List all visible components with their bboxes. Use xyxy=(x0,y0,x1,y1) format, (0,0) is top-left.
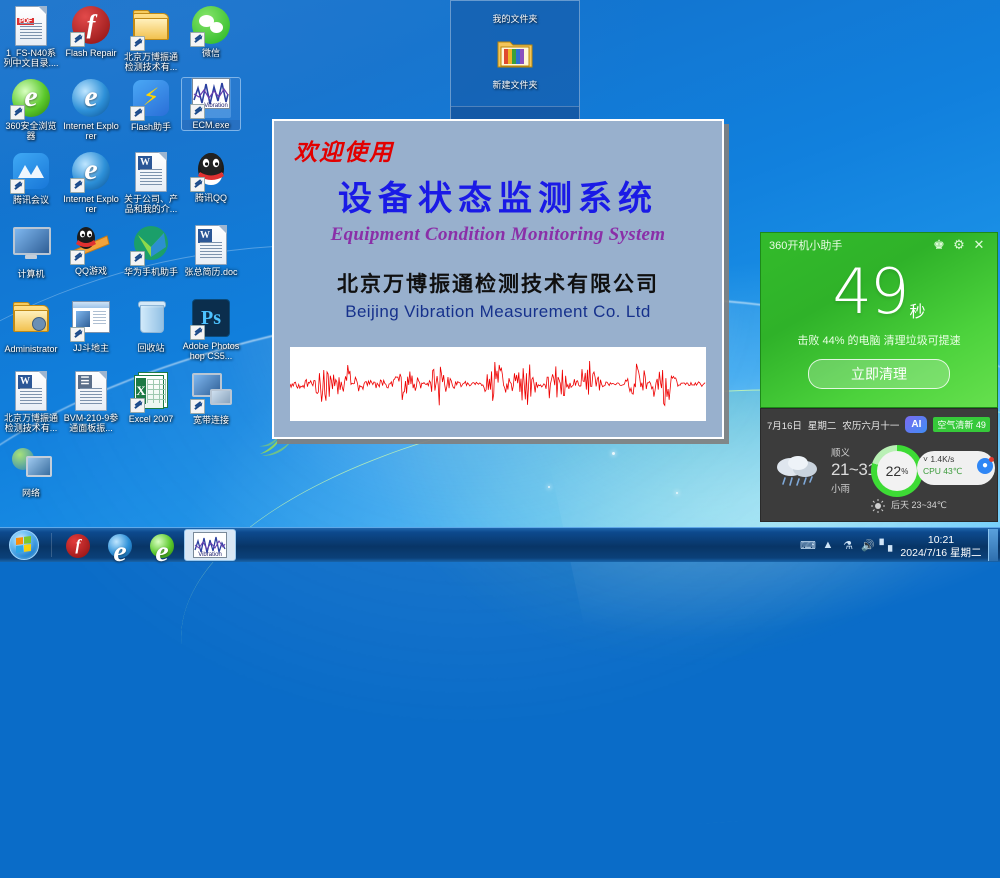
system-title-en: Equipment Condition Monitoring System xyxy=(274,224,722,246)
desktop-icon-glyph xyxy=(191,151,231,191)
desktop-icon-label: 北京万博振通检测技术有... xyxy=(2,413,60,433)
desktop-icon-label: 华为手机助手 xyxy=(122,267,180,277)
desktop-icon-glyph xyxy=(11,446,51,486)
taskbar-item-flash-player[interactable]: f xyxy=(58,530,98,560)
shortcut-arrow-icon xyxy=(70,327,85,342)
desktop-icon-label: Internet Explorer xyxy=(62,121,120,141)
desktop-icon-glyph: W xyxy=(11,371,51,411)
vibration-waveform-chart xyxy=(290,347,706,421)
desktop-icon[interactable]: 微信 xyxy=(182,5,240,58)
desktop-icon-glyph: X xyxy=(131,372,171,412)
desktop-icon-glyph: W xyxy=(131,152,171,192)
ecm-waveform-icon: Vibration xyxy=(193,532,227,558)
desktop-icon-glyph xyxy=(71,79,111,119)
desktop-icon[interactable]: 北京万博振通检测技术有... xyxy=(122,5,180,72)
desktop-icon-label: Adobe Photoshop CS5... xyxy=(182,341,240,361)
desktop-icon-glyph xyxy=(191,6,231,46)
desktop-icon[interactable]: 回收站 xyxy=(122,297,180,353)
desktop-icon-label: Administrator xyxy=(2,344,60,354)
desktop-icon-glyph xyxy=(11,153,51,193)
desktop-icon-glyph: f xyxy=(71,6,111,46)
start-button[interactable] xyxy=(1,529,47,561)
weather-temp-range: 21~31 xyxy=(831,460,876,480)
volume-icon[interactable]: 🔊 xyxy=(858,539,878,552)
windows-orb-icon xyxy=(9,530,39,560)
svg-text:Vibration: Vibration xyxy=(204,103,228,109)
desktop-icon[interactable]: PsAdobe Photoshop CS5... xyxy=(182,297,240,361)
desktop-icon-glyph xyxy=(71,152,111,192)
desktop-icon-glyph xyxy=(71,224,111,264)
folder-window-item[interactable]: 新建文件夹 xyxy=(451,35,579,91)
shortcut-arrow-icon xyxy=(70,250,85,265)
desktop-icon[interactable]: 计算机 xyxy=(2,224,60,279)
boot-assistant-widget[interactable]: 360开机小助手 ♚ ⚙ ✕ 49秒 击败 44% 的电脑 清理垃圾可提速 立即… xyxy=(760,232,998,408)
folder-window-header: 我的文件夹 xyxy=(451,1,579,25)
boot-assistant-titlebar: 360开机小助手 ♚ ⚙ ✕ xyxy=(761,233,997,257)
desktop-icon-label: 腾讯会议 xyxy=(2,195,60,205)
wallpaper-sparkle xyxy=(612,452,615,455)
company-name-cn: 北京万博振通检测技术有限公司 xyxy=(274,268,722,298)
air-quality-badge: 空气清新 49 xyxy=(933,417,990,432)
desktop-icon[interactable]: fFlash Repair xyxy=(62,5,120,58)
desktop-icon[interactable]: Internet Explorer xyxy=(62,78,120,141)
360-browser-icon xyxy=(150,534,174,558)
taskbar-separator xyxy=(51,533,52,557)
shortcut-arrow-icon xyxy=(190,32,205,47)
shortcut-arrow-icon xyxy=(70,178,85,193)
desktop-icon-label: Internet Explorer xyxy=(62,194,120,214)
shortcut-arrow-icon xyxy=(70,32,85,47)
splash-window[interactable]: 欢迎使用 设备状态监测系统 Equipment Condition Monito… xyxy=(272,119,724,439)
desktop-icon[interactable]: ☰BVM-210-9参通面板振... xyxy=(62,370,120,433)
ai-badge[interactable]: AI xyxy=(905,416,927,433)
desktop-icon-label: JJ斗地主 xyxy=(62,343,120,353)
shortcut-arrow-icon xyxy=(130,251,145,266)
taskbar: f Vibration ⌨ ▲ ⚗ 🔊 ▘▖ 10:21 2024/7/16 星… xyxy=(0,527,1000,562)
desktop-icon-glyph: Ps xyxy=(191,299,231,339)
weather-date: 7月16日 xyxy=(767,418,802,432)
desktop-icon[interactable]: JJ斗地主 xyxy=(62,297,120,353)
shortcut-arrow-icon xyxy=(130,106,145,121)
flash-icon: f xyxy=(66,534,90,558)
welcome-text: 欢迎使用 xyxy=(294,133,394,167)
weather-location: 顺义 xyxy=(831,445,876,459)
desktop-icon-label: BVM-210-9参通面板振... xyxy=(62,413,120,433)
memory-usage-value: 22% xyxy=(877,451,917,491)
desktop-icon[interactable]: 腾讯会议 xyxy=(2,151,60,205)
shortcut-arrow-icon xyxy=(190,399,205,414)
desktop-icon-glyph xyxy=(131,10,171,50)
weather-lunar: 农历六月十一 xyxy=(842,418,899,432)
clean-now-button[interactable]: 立即清理 xyxy=(808,359,950,389)
weather-weekday: 星期二 xyxy=(808,418,837,432)
desktop-icon-glyph xyxy=(11,227,51,267)
shortcut-arrow-icon xyxy=(190,177,205,192)
clock-date: 2024/7/16 星期二 xyxy=(898,547,984,560)
weather-date-row: 7月16日 星期二 农历六月十一 AI 空气清新 49 xyxy=(761,409,997,433)
boot-assistant-title: 360开机小助手 xyxy=(769,237,929,253)
desktop-icon[interactable]: ⚡Flash助手 xyxy=(122,78,180,132)
desktop-icon-glyph: ⚡ xyxy=(131,80,171,120)
desktop-icon-label: 腾讯QQ xyxy=(182,193,240,203)
desktop-icon[interactable]: Internet Explorer xyxy=(62,151,120,214)
desktop-icon-label: 张总简历.doc xyxy=(182,267,240,277)
action-center-icon[interactable]: ⚗ xyxy=(838,539,858,552)
weather-condition: 小雨 xyxy=(831,481,876,495)
clock-time: 10:21 xyxy=(898,534,984,547)
taskbar-item-ecm-app[interactable]: Vibration xyxy=(184,529,236,561)
desktop-icon[interactable]: PDF1_FS-N40系列中文目录.... xyxy=(2,5,60,68)
desktop-icon[interactable]: Administrator xyxy=(2,297,60,354)
desktop-icon-label: 1_FS-N40系列中文目录.... xyxy=(2,48,60,68)
desktop-icon[interactable]: W关于公司、产品和我的介... xyxy=(122,151,180,214)
network-signal-icon[interactable]: ▘▖ xyxy=(878,539,898,552)
desktop-icon-glyph xyxy=(131,301,171,341)
folder-window-item-label: 新建文件夹 xyxy=(451,78,579,91)
boot-time-display: 49秒 xyxy=(761,261,997,323)
internet-explorer-icon xyxy=(108,534,132,558)
shortcut-arrow-icon xyxy=(10,105,25,120)
folder-icon xyxy=(495,35,535,71)
shortcut-arrow-icon xyxy=(130,398,145,413)
sun-icon xyxy=(871,499,885,513)
desktop-icon-label: 360安全浏览器 xyxy=(2,121,60,141)
desktop-icon-label: Excel 2007 xyxy=(122,414,180,424)
show-hidden-icons-icon[interactable]: ▲ xyxy=(818,539,838,551)
boot-seconds-unit: 秒 xyxy=(909,304,925,321)
desktop-icon-label: Flash助手 xyxy=(122,122,180,132)
notification-badge-icon[interactable]: ● xyxy=(977,458,993,474)
boot-seconds-value: 49 xyxy=(833,255,908,328)
desktop-icon-label: 网络 xyxy=(2,488,60,498)
svg-text:Vibration: Vibration xyxy=(198,552,222,558)
system-tray: ⌨ ▲ ⚗ 🔊 ▘▖ 10:21 2024/7/16 星期二 xyxy=(798,528,1000,562)
wallpaper-sparkle xyxy=(548,486,550,488)
desktop-icon-label: 回收站 xyxy=(122,343,180,353)
close-icon[interactable]: ✕ xyxy=(969,237,989,253)
system-title-cn: 设备状态监测系统 xyxy=(274,171,722,220)
keyboard-icon[interactable]: ⌨ xyxy=(798,539,818,552)
shortcut-arrow-icon xyxy=(190,325,205,340)
boot-assistant-subtitle: 击败 44% 的电脑 清理垃圾可提速 xyxy=(761,332,997,348)
desktop-icon-glyph xyxy=(11,302,51,342)
shortcut-arrow-icon xyxy=(130,36,145,51)
company-name-en: Beijing Vibration Measurement Co. Ltd xyxy=(274,302,722,322)
desktop-icon[interactable]: 华为手机助手 xyxy=(122,224,180,277)
wallpaper-sparkle xyxy=(676,492,678,494)
desktop-icon-glyph: Vibration xyxy=(191,78,231,118)
desktop-icon-label: Flash Repair xyxy=(62,48,120,58)
shortcut-arrow-icon xyxy=(190,104,205,119)
folder-window[interactable]: 我的文件夹 新建文件夹 xyxy=(450,0,580,122)
weather-forecast: 后天 23~34℃ xyxy=(891,498,947,511)
taskbar-item-360-browser[interactable] xyxy=(142,530,182,560)
desktop-icon-label: ECM.exe xyxy=(182,120,240,130)
desktop-icon-glyph: ☰ xyxy=(71,371,111,411)
desktop-icon[interactable]: VibrationECM.exe xyxy=(182,78,240,130)
desktop-icon-label: 微信 xyxy=(182,48,240,58)
gear-icon[interactable]: ⚙ xyxy=(949,237,969,253)
taskbar-clock[interactable]: 10:21 2024/7/16 星期二 xyxy=(898,531,984,560)
desktop-icon-label: 计算机 xyxy=(2,269,60,279)
show-desktop-button[interactable] xyxy=(988,529,998,561)
weather-detail-row: 顺义 21~31 小雨 22% ˅ 1.4K/s CPU 43℃ ● 后天 23… xyxy=(761,433,997,515)
rain-cloud-icon xyxy=(771,451,827,489)
desktop-icon-glyph xyxy=(131,225,171,265)
taskbar-item-internet-explorer[interactable] xyxy=(100,530,140,560)
desktop-icon-glyph xyxy=(11,79,51,119)
memory-usage-gauge[interactable]: 22% xyxy=(871,445,923,497)
weather-system-widget[interactable]: 7月16日 星期二 农历六月十一 AI 空气清新 49 顺义 21~31 小雨 … xyxy=(760,408,998,522)
desktop-icon[interactable]: QQ游戏 xyxy=(62,224,120,276)
desktop-icon[interactable]: XExcel 2007 xyxy=(122,370,180,424)
desktop-icon-label: QQ游戏 xyxy=(62,266,120,276)
shortcut-arrow-icon xyxy=(10,179,25,194)
memory-usage-unit: % xyxy=(901,467,908,476)
desktop-icon-label: 北京万博振通检测技术有... xyxy=(122,52,180,72)
desktop-icon[interactable]: 360安全浏览器 xyxy=(2,78,60,141)
desktop-icon[interactable]: 腾讯QQ xyxy=(182,151,240,203)
desktop-icon[interactable]: W张总简历.doc xyxy=(182,224,240,277)
desktop-icon[interactable]: 宽带连接 xyxy=(182,370,240,425)
desktop-icon[interactable]: W北京万博振通检测技术有... xyxy=(2,370,60,433)
desktop-icon-label: 宽带连接 xyxy=(182,415,240,425)
desktop-icon-glyph xyxy=(191,373,231,413)
performance-chip[interactable]: ˅ 1.4K/s CPU 43℃ ● xyxy=(917,451,995,485)
weather-temp-column: 顺义 21~31 小雨 xyxy=(831,445,876,495)
desktop-icon-glyph xyxy=(71,301,111,341)
desktop-icon[interactable]: 网络 xyxy=(2,443,60,498)
trophy-icon[interactable]: ♚ xyxy=(929,237,949,253)
desktop-icon-label: 关于公司、产品和我的介... xyxy=(122,194,180,214)
desktop-icon-glyph: W xyxy=(191,225,231,265)
desktop-icon-glyph: PDF xyxy=(11,6,51,46)
